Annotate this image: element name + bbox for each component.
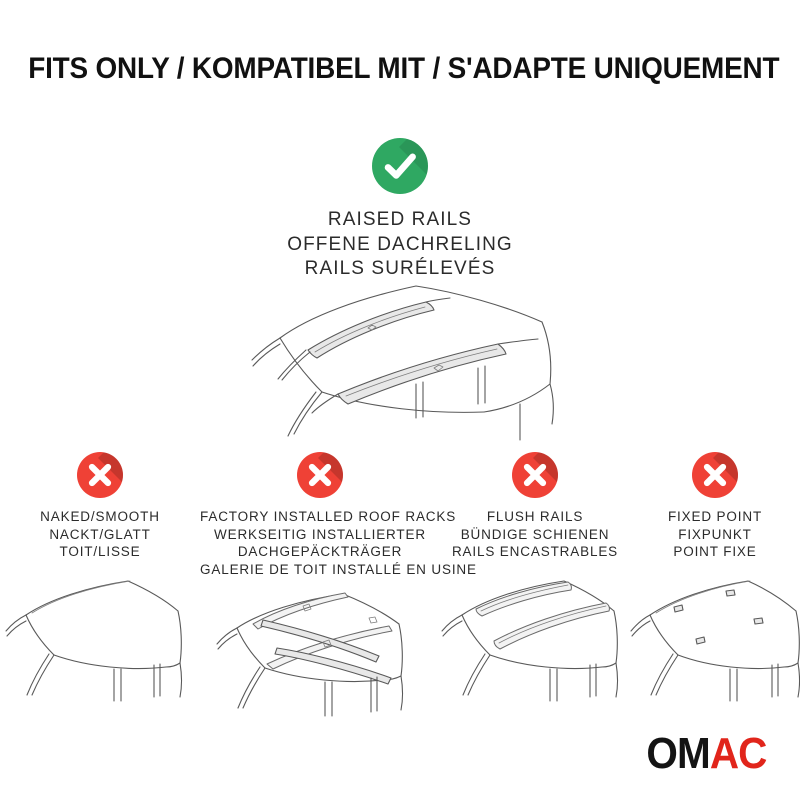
label-fr: GALERIE DE TOIT INSTALLÉ EN USINE <box>200 561 440 579</box>
compatible-section: RAISED RAILS OFFENE DACHRELING RAILS SUR… <box>0 138 800 282</box>
logo-text-om: OM <box>646 729 709 778</box>
label-en: FACTORY INSTALLED ROOF RACKS <box>200 508 440 526</box>
label-en: FLUSH RAILS <box>440 508 630 526</box>
label-de: BÜNDIGE SCHIENEN <box>440 526 630 544</box>
not-compatible-item-naked-smooth: NAKED/SMOOTH NACKT/GLATT TOIT/LISSE <box>0 452 200 709</box>
not-compatible-section: NAKED/SMOOTH NACKT/GLATT TOIT/LISSE <box>0 452 800 726</box>
x-circle-icon <box>77 452 123 498</box>
item-labels: FIXED POINT FIXPUNKT POINT FIXE <box>630 508 800 561</box>
fixed-point-illustration <box>630 569 800 709</box>
flush-rails-illustration <box>440 569 630 709</box>
label-fr: POINT FIXE <box>630 543 800 561</box>
label-de-2: DACHGEPÄCKTRÄGER <box>200 543 440 561</box>
naked-roof-illustration <box>0 569 200 709</box>
x-circle-icon <box>692 452 738 498</box>
item-labels: NAKED/SMOOTH NACKT/GLATT TOIT/LISSE <box>0 508 200 561</box>
not-compatible-item-factory-racks: FACTORY INSTALLED ROOF RACKS WERKSEITIG … <box>200 452 440 726</box>
page-title: FITS ONLY / KOMPATIBEL MIT / S'ADAPTE UN… <box>28 52 779 86</box>
compatible-labels: RAISED RAILS OFFENE DACHRELING RAILS SUR… <box>0 208 800 282</box>
page-title-bar: FITS ONLY / KOMPATIBEL MIT / S'ADAPTE UN… <box>0 52 800 86</box>
label-de: FIXPUNKT <box>630 526 800 544</box>
item-labels: FLUSH RAILS BÜNDIGE SCHIENEN RAILS ENCAS… <box>440 508 630 561</box>
label-fr: RAILS ENCASTRABLES <box>440 543 630 561</box>
omac-logo: OMAC <box>646 732 766 776</box>
raised-rails-illustration <box>0 272 800 452</box>
label-fr: TOIT/LISSE <box>0 543 200 561</box>
not-compatible-item-flush-rails: FLUSH RAILS BÜNDIGE SCHIENEN RAILS ENCAS… <box>440 452 630 709</box>
check-circle-icon <box>372 138 428 194</box>
x-circle-icon <box>512 452 558 498</box>
label-en: NAKED/SMOOTH <box>0 508 200 526</box>
label-de: WERKSEITIG INSTALLIERTER <box>200 526 440 544</box>
compatible-label-de: OFFENE DACHRELING <box>0 233 800 258</box>
compatible-label-en: RAISED RAILS <box>0 208 800 233</box>
not-compatible-item-fixed-point: FIXED POINT FIXPUNKT POINT FIXE <box>630 452 800 709</box>
label-de: NACKT/GLATT <box>0 526 200 544</box>
logo-text-ac: AC <box>709 729 766 778</box>
x-circle-icon <box>297 452 343 498</box>
label-en: FIXED POINT <box>630 508 800 526</box>
item-labels: FACTORY INSTALLED ROOF RACKS WERKSEITIG … <box>200 508 440 578</box>
factory-racks-illustration <box>200 586 440 726</box>
